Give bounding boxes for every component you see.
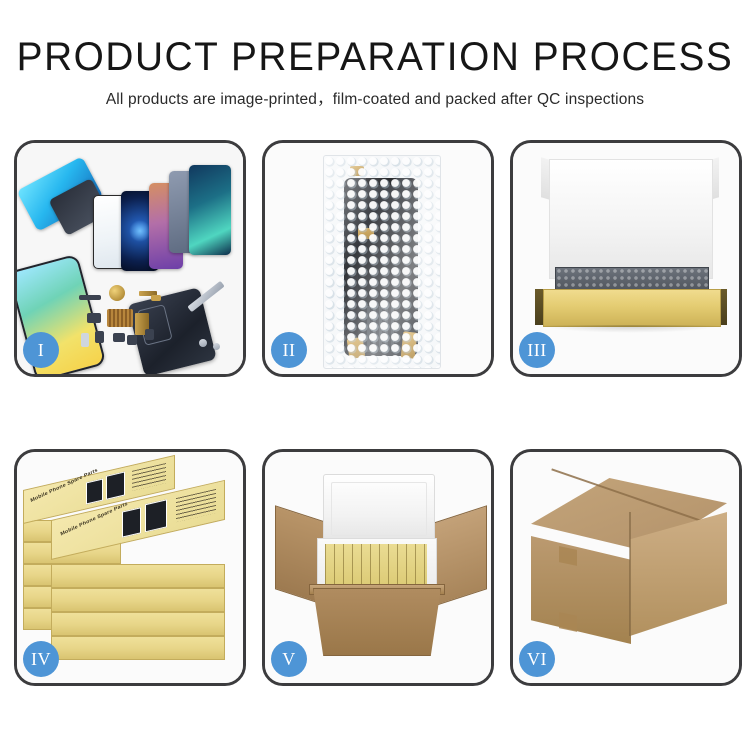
plastic-sheen [324, 156, 440, 368]
page-subtitle: All products are image-printed，film-coat… [0, 87, 750, 109]
part-logic-board [107, 309, 133, 327]
packed-yellow-boxes [325, 544, 427, 584]
step-badge-6: VI [519, 641, 555, 677]
carton-body [313, 588, 441, 656]
process-step-panel-4: Mobile Phone Spare Parts Mobile Phone Sp… [14, 449, 246, 686]
part-sim-tray [81, 333, 89, 347]
process-step-panel-6: VI [510, 449, 742, 686]
part-speaker [79, 295, 101, 300]
box-white-lid [549, 159, 713, 279]
carton-vertical-edge [629, 512, 631, 636]
step-badge-5: V [271, 641, 307, 677]
carton-tape-patch-bottom [559, 612, 577, 632]
step-badge-2: II [271, 332, 307, 368]
part-vibrator [127, 335, 137, 345]
box-window-2 [106, 471, 125, 499]
process-step-panel-1: I [14, 140, 246, 377]
part-connector [87, 313, 101, 323]
box-spec-lines [176, 489, 216, 522]
part-camera-lens [109, 285, 125, 301]
process-step-panel-5: V [262, 449, 494, 686]
process-step-grid: I II [14, 140, 736, 686]
page-header: PRODUCT PREPARATION PROCESS All products… [0, 0, 750, 109]
process-step-panel-2: II [262, 140, 494, 377]
part-screw [199, 339, 207, 347]
box-window-2 [145, 499, 167, 532]
stack-box-front [51, 636, 225, 660]
yellow-box-tray [543, 289, 721, 327]
stack-box-front [51, 588, 225, 612]
step-badge-4: IV [23, 641, 59, 677]
carton-front-face [531, 536, 631, 644]
box-shadow [541, 325, 721, 333]
bubble-wrap-bag [323, 155, 441, 369]
teal-phone [189, 165, 231, 255]
styrofoam-lid [323, 474, 435, 544]
page-title: PRODUCT PREPARATION PROCESS [11, 36, 739, 78]
box-stack: Mobile Phone Spare Parts Mobile Phone Sp… [21, 472, 243, 672]
step-badge-1: I [23, 332, 59, 368]
step-badge-3: III [519, 332, 555, 368]
stack-box-front [51, 612, 225, 636]
box-window-1 [122, 507, 141, 537]
process-step-panel-3: III [510, 140, 742, 377]
part-screw-2 [213, 343, 220, 350]
part-gold-contact [151, 295, 161, 301]
part-button [95, 331, 104, 343]
stack-box-front [51, 564, 225, 588]
box-spec-lines [132, 463, 166, 491]
part-bracket [113, 333, 125, 342]
part-screw-plate [145, 329, 154, 340]
box-window-1 [86, 479, 103, 505]
